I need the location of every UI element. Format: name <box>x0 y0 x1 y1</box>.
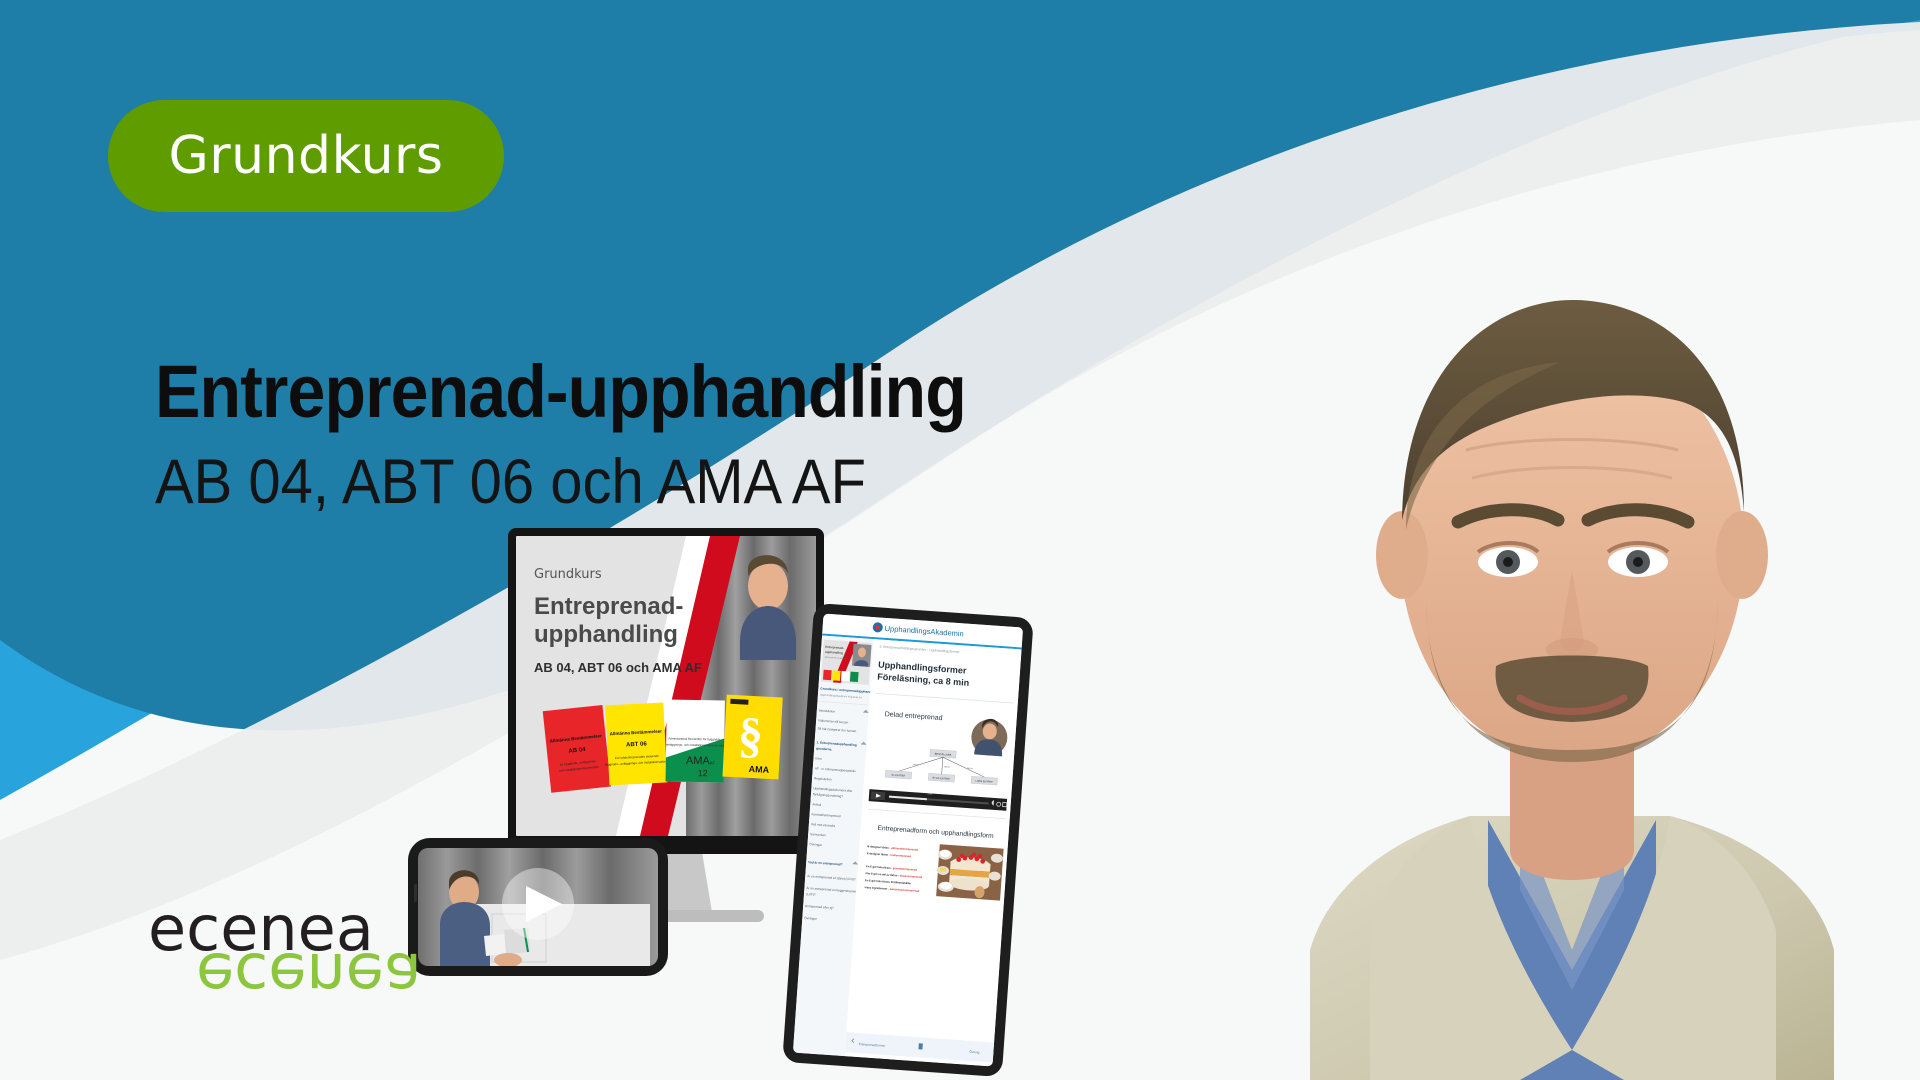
svg-text:12: 12 <box>698 768 708 778</box>
svg-text:Anbud: Anbud <box>812 802 821 807</box>
svg-text:Entreprenad-: Entreprenad- <box>534 593 683 620</box>
svg-text:AMA: AMA <box>686 755 711 767</box>
svg-text:upphandling: upphandling <box>534 621 678 648</box>
badge-grundkurs: Grundkurs <box>108 100 504 212</box>
ecenea-logo: ecenea ecenea <box>148 898 448 1018</box>
svg-text:AMA: AMA <box>748 764 769 775</box>
cake-photo <box>935 844 1003 900</box>
footer-next-label: Övning <box>969 1050 980 1055</box>
svg-text:ABT 06: ABT 06 <box>626 741 648 748</box>
promo-banner: Grundkurs Entreprenad-upphandling AB 04,… <box>0 0 1920 1080</box>
presenter-portrait <box>1220 250 1920 1080</box>
device-mockup-cluster: Grundkurs Entreprenad- upphandling AB 04… <box>400 500 1120 1080</box>
badge-label: Grundkurs <box>168 126 443 186</box>
svg-text:Grundkurs: Grundkurs <box>534 567 602 582</box>
headline-block: Entreprenad-upphandling AB 04, ABT 06 oc… <box>155 355 1036 514</box>
svg-text:§: § <box>737 706 765 763</box>
page-subtitle: AB 04, ABT 06 och AMA AF <box>155 451 966 514</box>
svg-text:(LUF)?: (LUF)? <box>806 892 816 897</box>
svg-text:AF: AF <box>710 760 716 765</box>
bookmark-icon[interactable] <box>918 1043 922 1049</box>
logo-wordmark-reflection: ecenea <box>196 944 422 1006</box>
svg-text:Intro: Intro <box>815 756 822 760</box>
tablet-mockup: UpphandlingsAkademin Entreprenad- upphan… <box>782 603 1034 1077</box>
svg-text:AB 04, ABT 06 och AMA AF: AB 04, ABT 06 och AMA AF <box>534 660 702 675</box>
page-title: Entreprenad-upphandling <box>155 355 966 429</box>
play-icon[interactable] <box>502 868 574 940</box>
